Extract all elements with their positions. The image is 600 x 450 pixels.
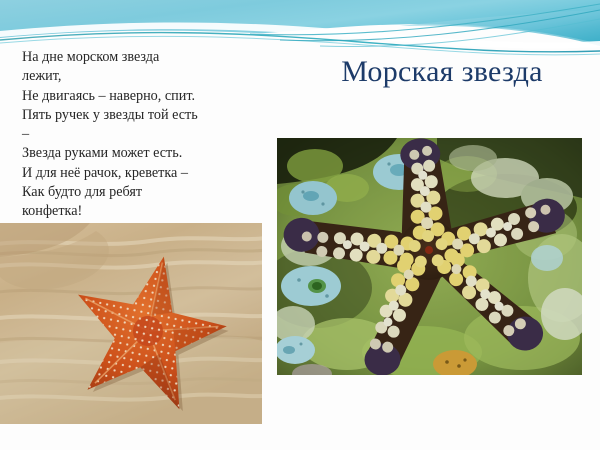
poem-line: И для неё рачок, креветка – (22, 164, 272, 183)
starfish-on-sand-graphic (0, 223, 262, 424)
poem-text-block: На дне морском звезда лежит, Не двигаясь… (22, 48, 272, 222)
slide-canvas: Морская звезда На дне морском звезда леж… (0, 0, 600, 450)
poem-line: конфетка! (22, 202, 272, 221)
poem-line: лежит, (22, 67, 272, 86)
wave-arc-2 (280, 10, 600, 41)
poem-line: На дне морском звезда (22, 48, 272, 67)
poem-line: – (22, 125, 272, 144)
poem-line: Не двигаясь – наверно, спит. (22, 87, 272, 106)
poem-line: Звезда руками может есть. (22, 144, 272, 163)
poem-line: Пять ручек у звезды той есть (22, 106, 272, 125)
wave-arc-1 (250, 4, 600, 35)
page-title: Морская звезда (292, 55, 592, 88)
wave-band-fill-secondary (400, 10, 600, 46)
wave-band-fill (0, 0, 600, 44)
image-starfish-on-reef (277, 138, 582, 375)
image-starfish-on-sand (0, 223, 262, 424)
poem-line: Как будто для ребят (22, 183, 272, 202)
wave-arc-3 (320, 19, 600, 46)
starfish-on-reef-graphic (277, 138, 582, 375)
wave-white-ribbon (0, 22, 600, 48)
